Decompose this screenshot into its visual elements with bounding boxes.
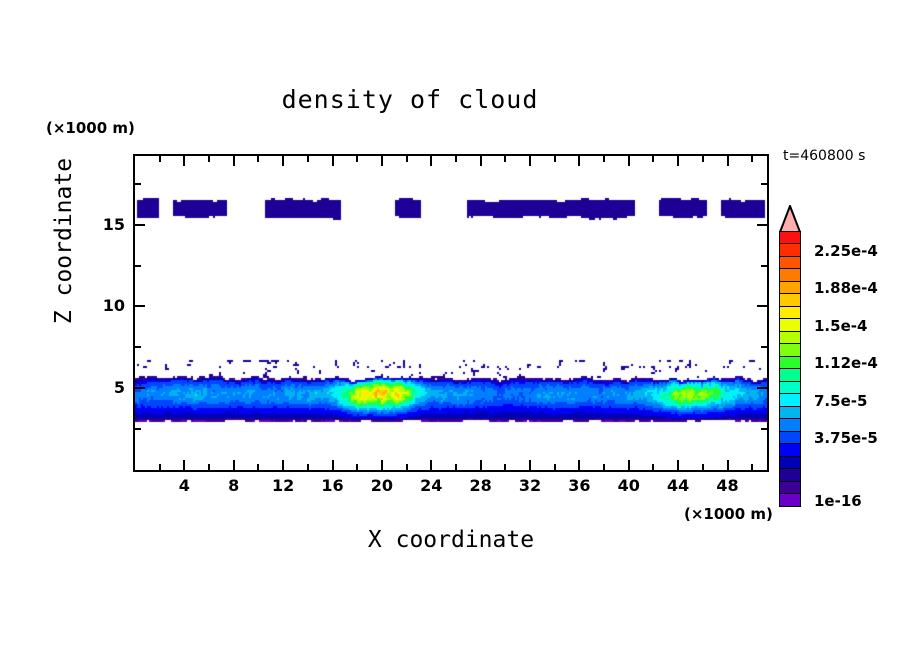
x-axis-tick	[406, 156, 408, 162]
y-axis-tick	[761, 428, 767, 430]
x-axis-tick	[628, 156, 630, 166]
x-axis-tick	[529, 156, 531, 166]
x-axis-tick	[628, 460, 630, 470]
y-axis-tick	[135, 428, 141, 430]
x-axis-tick	[208, 464, 210, 470]
x-axis-tick	[332, 460, 334, 470]
x-axis-tick	[578, 460, 580, 470]
x-axis-tick	[529, 460, 531, 470]
y-axis-unit-caption: (×1000 m)	[46, 119, 135, 137]
colorbar-arrow-shape	[779, 205, 801, 233]
x-axis-tick	[430, 460, 432, 470]
colorbar-overflow-arrow	[779, 205, 801, 233]
x-axis-tick	[183, 156, 185, 166]
y-axis-tick	[135, 224, 145, 226]
y-axis-tick	[135, 183, 141, 185]
x-axis-tick	[455, 464, 457, 470]
x-axis-tick	[727, 460, 729, 470]
x-axis-tick	[233, 156, 235, 166]
y-axis-tick-label: 15	[85, 215, 125, 234]
y-axis-tick	[761, 346, 767, 348]
colorbar-tick-label: 1e-16	[814, 492, 862, 510]
colorbar	[779, 232, 801, 507]
x-axis-tick	[504, 464, 506, 470]
x-axis-tick	[257, 464, 259, 470]
x-axis-tick	[183, 460, 185, 470]
x-axis-tick	[233, 460, 235, 470]
colorbar-tick-label: 1.12e-4	[814, 354, 878, 372]
y-axis-title: Z coordinate	[51, 141, 77, 341]
x-axis-tick	[603, 464, 605, 470]
x-axis-tick	[257, 156, 259, 162]
x-axis-tick	[702, 464, 704, 470]
y-axis-tick	[135, 387, 145, 389]
y-axis-tick	[757, 387, 767, 389]
y-axis-tick	[761, 265, 767, 267]
x-axis-tick	[381, 460, 383, 470]
x-axis-tick	[480, 156, 482, 166]
colorbar-tick-label: 2.25e-4	[814, 242, 878, 260]
x-axis-tick	[677, 460, 679, 470]
x-axis-tick	[480, 460, 482, 470]
x-axis-tick	[406, 464, 408, 470]
x-axis-tick	[307, 156, 309, 162]
x-axis-tick	[578, 156, 580, 166]
x-axis-tick	[652, 156, 654, 162]
x-axis-tick	[652, 464, 654, 470]
x-axis-tick-label: 48	[698, 476, 758, 495]
x-axis-tick	[677, 156, 679, 166]
x-axis-tick	[603, 156, 605, 162]
timestamp-annotation: t=460800 s	[783, 148, 865, 164]
y-axis-tick-label: 5	[85, 378, 125, 397]
x-axis-tick	[430, 156, 432, 166]
y-axis-tick	[135, 305, 145, 307]
x-axis-tick	[702, 156, 704, 162]
x-axis-title: X coordinate	[135, 527, 767, 553]
y-axis-tick-label: 10	[85, 296, 125, 315]
x-axis-tick	[751, 156, 753, 162]
x-axis-tick	[356, 464, 358, 470]
x-axis-tick	[751, 464, 753, 470]
x-axis-tick	[554, 156, 556, 162]
colorbar-band	[779, 493, 801, 507]
contour-plot-panel	[135, 156, 767, 470]
page-title: density of cloud	[0, 85, 820, 114]
y-axis-tick	[761, 183, 767, 185]
x-axis-tick	[307, 464, 309, 470]
x-axis-tick	[381, 156, 383, 166]
x-axis-tick	[455, 156, 457, 162]
x-axis-tick	[282, 156, 284, 166]
x-axis-tick	[282, 460, 284, 470]
colorbar-tick-label: 1.5e-4	[814, 317, 867, 335]
x-axis-tick	[504, 156, 506, 162]
y-axis-tick	[757, 305, 767, 307]
x-axis-tick	[208, 156, 210, 162]
cloud-density-contour-canvas	[135, 156, 767, 470]
colorbar-tick-label: 7.5e-5	[814, 392, 867, 410]
y-axis-tick	[135, 346, 141, 348]
x-axis-tick	[159, 156, 161, 162]
colorbar-tick-label: 3.75e-5	[814, 429, 878, 447]
x-axis-tick	[554, 464, 556, 470]
x-axis-tick	[159, 464, 161, 470]
x-axis-tick	[332, 156, 334, 166]
x-axis-tick	[727, 156, 729, 166]
x-axis-unit-caption: (×1000 m)	[684, 505, 773, 523]
colorbar-tick-label: 1.88e-4	[814, 279, 878, 297]
y-axis-tick	[135, 265, 141, 267]
x-axis-tick	[356, 156, 358, 162]
y-axis-tick	[757, 224, 767, 226]
